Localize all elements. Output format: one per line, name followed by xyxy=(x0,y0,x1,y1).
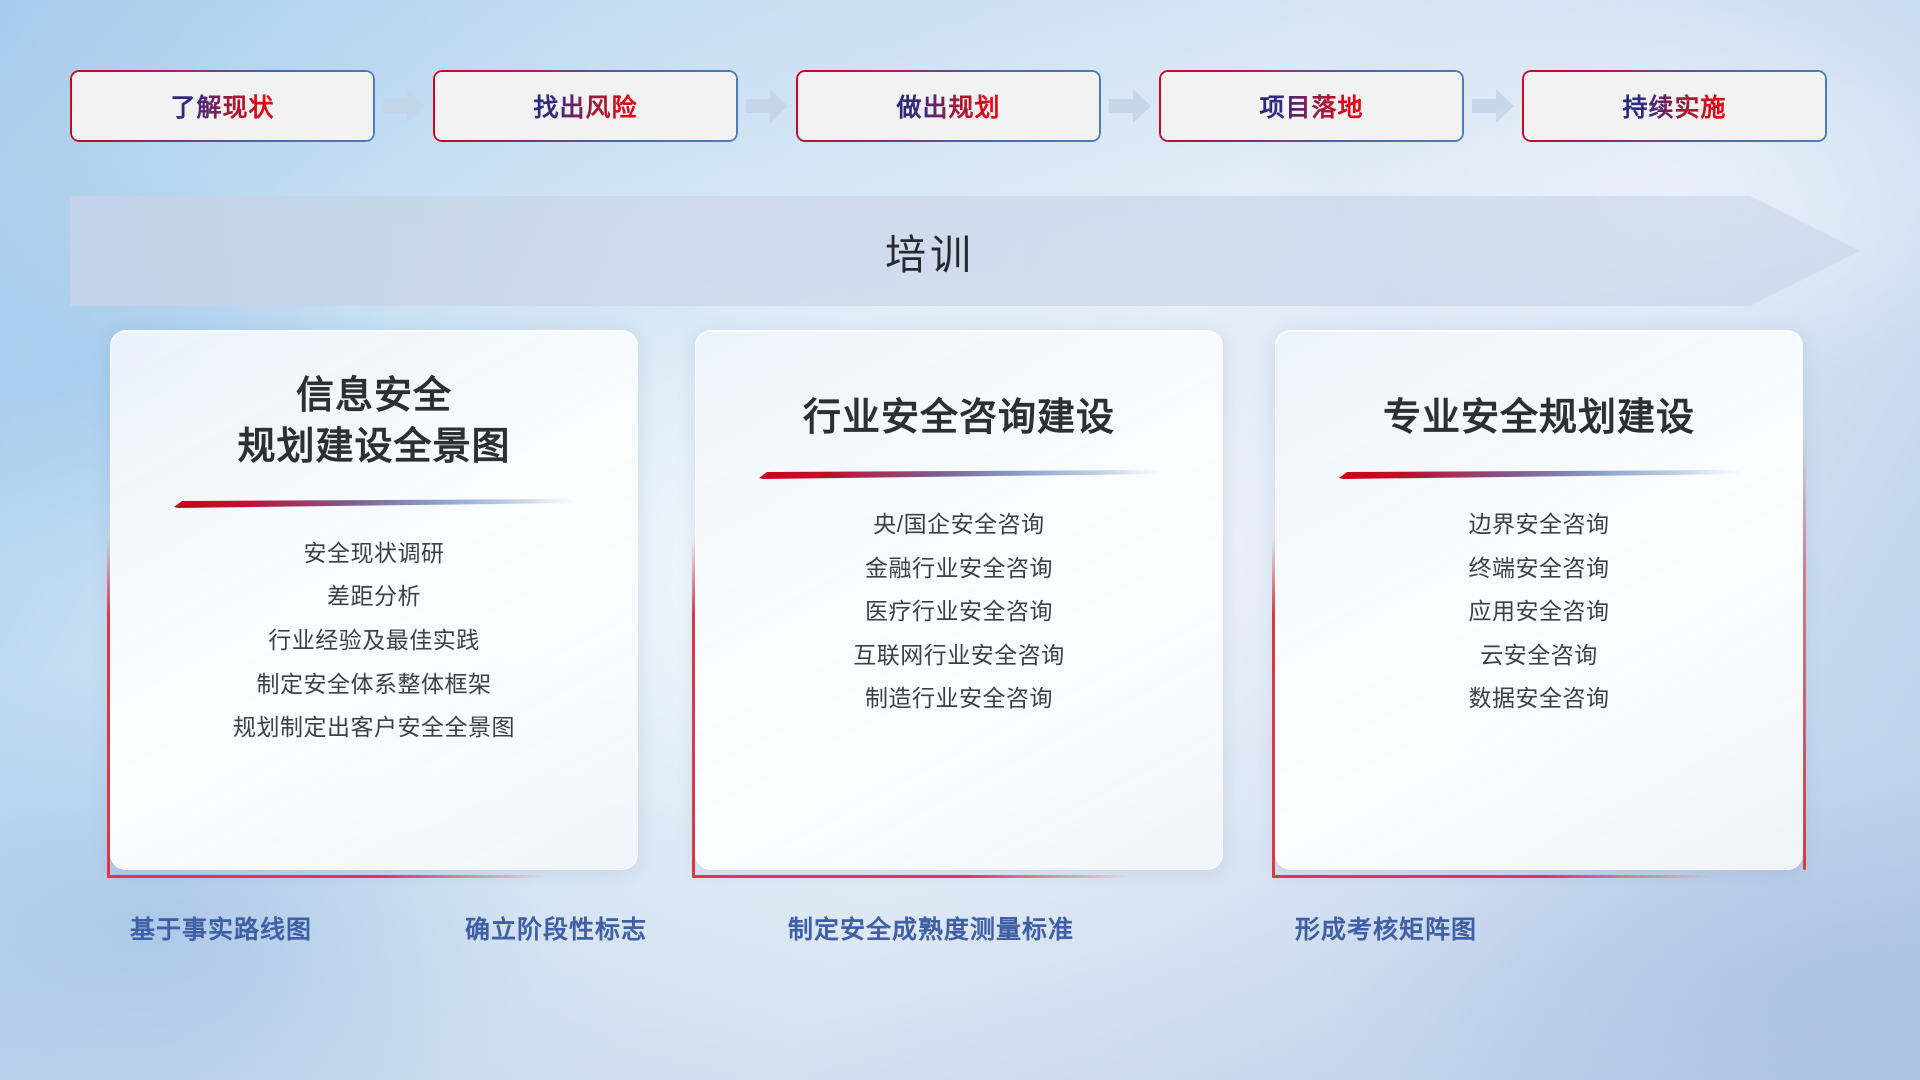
card-1-list: 安全现状调研 差距分析 行业经验及最佳实践 制定安全体系整体框架 规划制定出客户… xyxy=(111,540,637,742)
card-3-list: 边界安全咨询 终端安全咨询 应用安全咨询 云安全咨询 数据安全咨询 xyxy=(1276,511,1802,713)
card-3[interactable]: 专业安全规划建设 xyxy=(1275,330,1803,870)
step-box-1-inner: 了解现状 xyxy=(72,72,373,140)
arrow-right-icon xyxy=(1109,89,1151,123)
step-box-4-inner: 项目落地 xyxy=(1161,72,1462,140)
training-banner-label: 培训 xyxy=(885,221,975,281)
card-1-wrapper: 信息安全 规划建设全景图 xyxy=(110,330,638,870)
card-3-accent-rail-bottom xyxy=(1272,875,1712,878)
list-item: 边界安全咨询 xyxy=(1469,511,1610,539)
step-box-2[interactable]: 找出风险 xyxy=(433,70,738,142)
arrow-right-icon xyxy=(1472,89,1514,123)
step-label-1: 了解现状 xyxy=(170,88,274,124)
step-box-5-inner: 持续实施 xyxy=(1524,72,1825,140)
step-label-5: 持续实施 xyxy=(1622,88,1726,124)
footer-label-2: 确立阶段性标志 xyxy=(465,910,647,946)
training-banner: 培训 xyxy=(70,196,1860,306)
footer-label-row: 基于事实路线图 确立阶段性标志 制定安全成熟度测量标准 形成考核矩阵图 xyxy=(0,910,1920,970)
list-item: 应用安全咨询 xyxy=(1469,598,1610,626)
list-item: 行业经验及最佳实践 xyxy=(268,627,480,655)
step-box-5[interactable]: 持续实施 xyxy=(1522,70,1827,142)
step-box-3-inner: 做出规划 xyxy=(798,72,1099,140)
list-item: 数据安全咨询 xyxy=(1469,685,1610,713)
card-2[interactable]: 行业安全咨询建设 xyxy=(695,330,1223,870)
list-item: 央/国企安全咨询 xyxy=(873,511,1044,539)
list-item: 金融行业安全咨询 xyxy=(865,555,1053,583)
step-box-2-inner: 找出风险 xyxy=(435,72,736,140)
step-box-1[interactable]: 了解现状 xyxy=(70,70,375,142)
card-1-accent-rail-bottom xyxy=(107,875,547,878)
arrow-right-icon xyxy=(746,89,788,123)
card-1-title: 信息安全 规划建设全景图 xyxy=(111,371,637,473)
list-item: 差距分析 xyxy=(327,583,421,611)
list-item: 规划制定出客户安全全景图 xyxy=(233,714,515,742)
footer-label-1: 基于事实路线图 xyxy=(130,910,312,946)
card-3-wrapper: 专业安全规划建设 xyxy=(1275,330,1803,870)
step-label-4: 项目落地 xyxy=(1259,88,1363,124)
card-2-wrapper: 行业安全咨询建设 xyxy=(695,330,1223,870)
card-2-title-line-1: 行业安全咨询建设 xyxy=(696,393,1222,444)
process-step-strip: 了解现状 找出风险 做出规划 项目落地 xyxy=(70,70,1850,142)
card-row: 信息安全 规划建设全景图 xyxy=(0,330,1920,870)
list-item: 制造行业安全咨询 xyxy=(865,685,1053,713)
step-box-3[interactable]: 做出规划 xyxy=(796,70,1101,142)
list-item: 终端安全咨询 xyxy=(1469,555,1610,583)
list-item: 医疗行业安全咨询 xyxy=(865,598,1053,626)
list-item: 云安全咨询 xyxy=(1480,642,1598,670)
step-label-2: 找出风险 xyxy=(533,88,637,124)
card-2-accent-rail-bottom xyxy=(692,875,1132,878)
card-1[interactable]: 信息安全 规划建设全景图 xyxy=(110,330,638,870)
card-1-title-line-2: 规划建设全景图 xyxy=(111,422,637,473)
card-1-divider xyxy=(174,499,574,506)
footer-label-3: 制定安全成熟度测量标准 xyxy=(788,910,1074,946)
card-1-title-line-1: 信息安全 xyxy=(111,371,637,422)
footer-label-4: 形成考核矩阵图 xyxy=(1295,910,1477,946)
card-2-divider xyxy=(759,470,1159,477)
arrow-right-icon xyxy=(383,89,425,123)
step-label-3: 做出规划 xyxy=(896,88,1000,124)
card-3-accent-rail-right xyxy=(1803,440,1806,870)
step-box-4[interactable]: 项目落地 xyxy=(1159,70,1464,142)
training-banner-label-wrap: 培训 xyxy=(70,196,1790,306)
list-item: 制定安全体系整体框架 xyxy=(257,671,492,699)
card-3-title-line-1: 专业安全规划建设 xyxy=(1276,393,1802,444)
card-2-list: 央/国企安全咨询 金融行业安全咨询 医疗行业安全咨询 互联网行业安全咨询 制造行… xyxy=(696,511,1222,713)
card-2-title: 行业安全咨询建设 xyxy=(696,393,1222,444)
list-item: 互联网行业安全咨询 xyxy=(853,642,1065,670)
card-3-title: 专业安全规划建设 xyxy=(1276,393,1802,444)
list-item: 安全现状调研 xyxy=(304,540,445,568)
card-3-divider xyxy=(1339,470,1739,477)
